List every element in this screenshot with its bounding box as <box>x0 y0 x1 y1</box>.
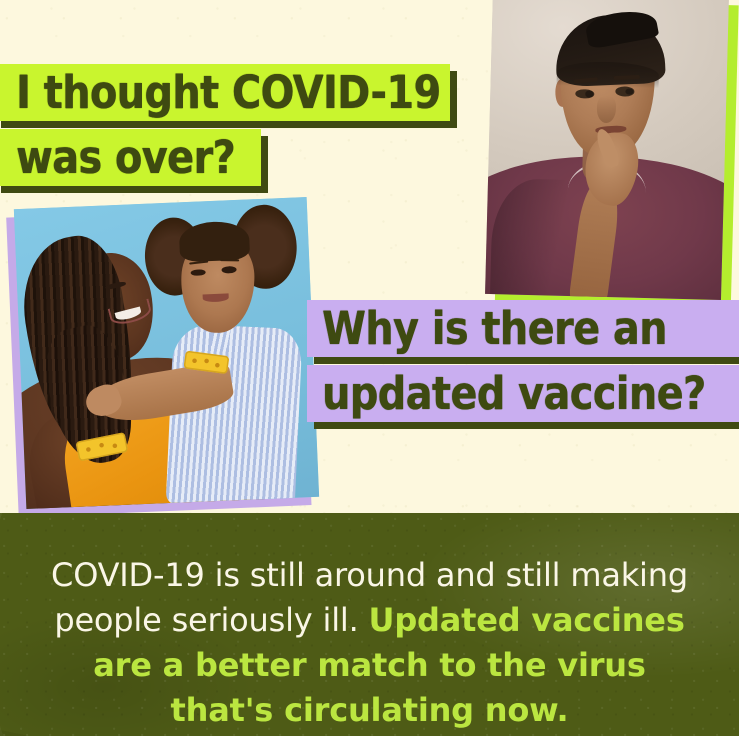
footer-band: COVID-19 is still around and still makin… <box>0 513 739 736</box>
footer-message: COVID-19 is still around and still makin… <box>48 553 691 733</box>
headline-purple-text-line2: updated vaccine? <box>322 365 706 422</box>
headline-green-text-line2: was over? <box>16 129 235 186</box>
photo-man <box>485 0 729 300</box>
man-eye-right <box>615 86 634 96</box>
headline-green-text-line1: I thought COVID-19 <box>16 64 441 121</box>
photo-family <box>14 197 319 509</box>
photo-family-image <box>14 197 319 509</box>
girl-eyebrow-right <box>220 259 239 261</box>
headline-purple-text-line1: Why is there an <box>322 300 667 357</box>
covid-vaccine-poster: I thought COVID-19 was over? Why is ther… <box>0 0 739 736</box>
photo-man-image <box>485 0 729 300</box>
